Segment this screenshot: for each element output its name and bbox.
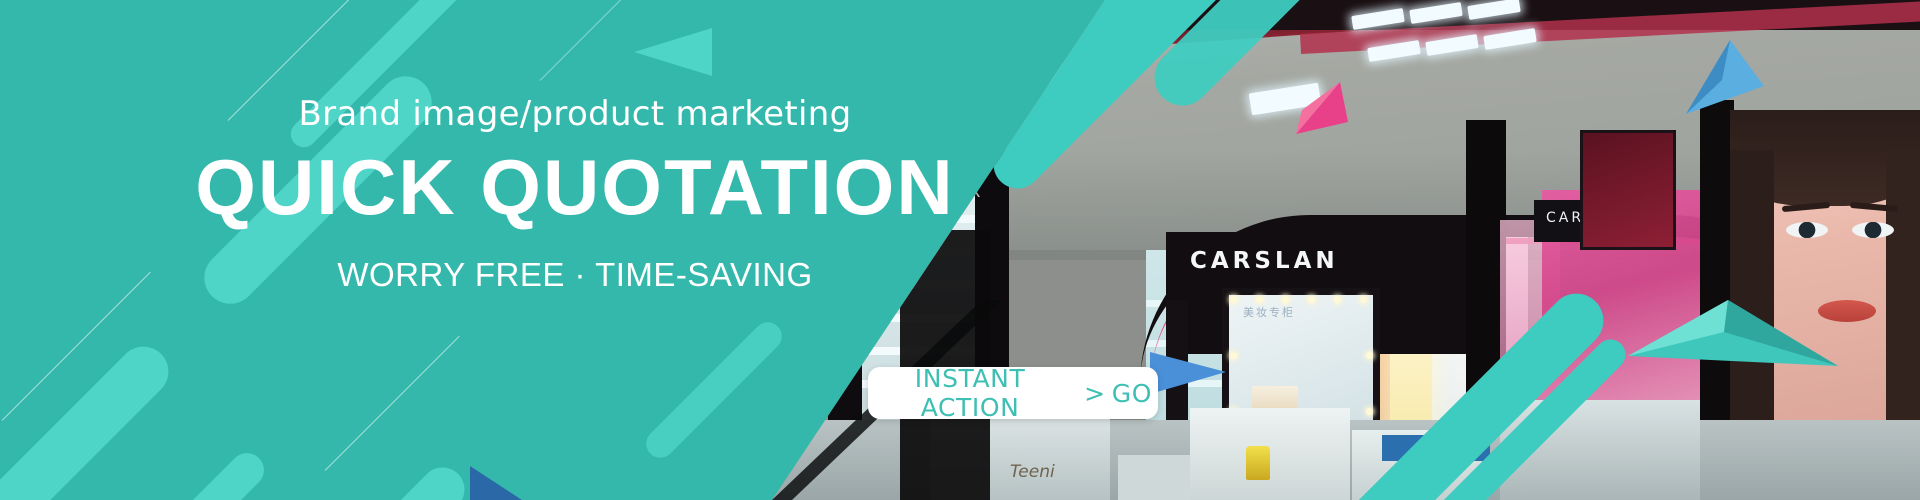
model-eye <box>1786 222 1828 238</box>
cta-go-group: > GO <box>1084 379 1152 408</box>
banner-eyebrow: Brand image/product marketing <box>0 94 1150 134</box>
poster-text: 美妆专柜 <box>1243 305 1363 320</box>
store-sign-carslan: CARSLAN <box>1190 248 1480 274</box>
display-counter <box>1190 408 1350 500</box>
decor-paper-plane-pink <box>1278 82 1348 140</box>
cta-label: INSTANT ACTION <box>874 364 1066 422</box>
banner-content: Brand image/product marketing QUICK QUOT… <box>0 0 1150 500</box>
banner-headline: QUICK QUOTATION <box>0 148 1150 226</box>
model-eye <box>1852 222 1894 238</box>
instant-action-cta-button[interactable]: INSTANT ACTION > GO <box>868 367 1158 419</box>
counter-product <box>1246 446 1270 480</box>
banner-subline: WORRY FREE · TIME-SAVING <box>0 256 1150 294</box>
promo-banner: PHOENIX CARSLAN 美妆专柜 <box>0 0 1920 500</box>
decor-paper-plane-teal <box>1628 296 1838 372</box>
wall-poster <box>1580 130 1676 250</box>
cta-go-label: GO <box>1112 379 1152 408</box>
chevron-right-icon: > <box>1084 379 1106 408</box>
decor-triangle-blue <box>1150 352 1226 394</box>
decor-paper-plane-blue <box>1686 40 1776 118</box>
